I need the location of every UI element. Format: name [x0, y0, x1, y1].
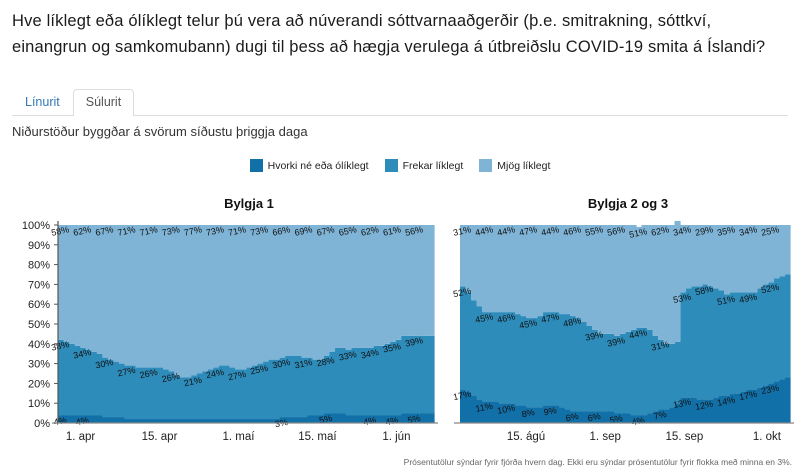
bar-mjog-48: [323, 225, 329, 356]
bar-frekar-32: [636, 328, 642, 415]
bar-mjog-9: [108, 225, 114, 360]
bar-frekar-59: [384, 344, 390, 415]
bar-mjog-24: [592, 225, 598, 330]
bar-mjog-2: [69, 225, 75, 344]
bar-mjog-59: [785, 225, 791, 275]
bar-mjog-31: [631, 225, 637, 330]
bar-mjog-11: [521, 225, 527, 316]
bar-mjog-67: [428, 225, 434, 336]
bar-mjog-39: [675, 221, 681, 342]
bar-frekar-25: [598, 334, 604, 411]
y-tick-label-1: 10%: [28, 398, 50, 410]
bar-frekar-41: [686, 288, 692, 397]
x-tick-label-3: 1. okt: [753, 431, 782, 443]
bar-frekar-30: [625, 332, 631, 413]
chart-panel-bylgja-2-og-3: Bylgja 2 og 3 17%11%10%8%9%6%6%5%4%7%13%…: [444, 196, 796, 451]
bar-mjog-20: [169, 225, 175, 372]
chart-svg-bylgja-2-og-3: 17%11%10%8%9%6%6%5%4%7%13%12%14%17%23%52…: [444, 221, 796, 451]
bar-frekar-5: [488, 312, 494, 401]
bar-mjog-40: [279, 225, 285, 358]
tab-linurit[interactable]: Línurit: [12, 89, 73, 116]
bar-mjog-29: [218, 225, 224, 366]
bar-frekar-67: [428, 336, 434, 413]
bar-frekar-15: [543, 312, 549, 405]
chart-title-bylgja-2-og-3: Bylgja 2 og 3: [444, 196, 796, 211]
bar-mjog-12: [526, 225, 532, 318]
x-tick-label-2: 15. sep: [666, 431, 704, 443]
bar-frekar-56: [768, 282, 774, 383]
bar-mjog-50: [334, 225, 340, 348]
bar-frekar-43: [697, 286, 703, 399]
legend-label-frekar: Frekar líklegt: [403, 160, 464, 172]
bar-mjog-46: [312, 225, 318, 360]
bar-mjog-38: [268, 225, 274, 360]
bar-mjog-17: [152, 225, 158, 368]
bar-mjog-31: [229, 225, 235, 368]
bar-hvorki-10: [113, 417, 119, 423]
bar-mjog-34: [647, 225, 653, 330]
bar-mjog-28: [614, 225, 620, 336]
bar-mjog-29: [620, 225, 626, 334]
bar-mjog-30: [625, 225, 631, 332]
bar-mjog-8: [102, 225, 108, 358]
bar-frekar-58: [379, 346, 385, 415]
bar-mjog-12: [124, 225, 130, 366]
bar-hvorki-11: [119, 417, 125, 423]
bar-mjog-14: [537, 225, 543, 316]
y-tick-label-4: 40%: [28, 339, 50, 351]
y-tick-label-6: 60%: [28, 299, 50, 311]
bar-mjog-24: [191, 225, 197, 375]
bar-mjog-38: [669, 225, 675, 344]
bar-mjog-58: [379, 225, 385, 346]
y-tick-label-5: 50%: [28, 319, 50, 331]
bar-frekar-38: [669, 344, 675, 407]
bar-frekar-12: [526, 318, 532, 407]
bar-frekar-55: [763, 284, 769, 385]
legend-item-frekar[interactable]: Frekar líklegt: [385, 159, 464, 172]
bar-hvorki-8: [102, 417, 108, 423]
x-tick-label-2: 1. maí: [222, 431, 255, 443]
bar-mjog-19: [565, 225, 571, 314]
legend-item-mjog[interactable]: Mjög líklegt: [479, 159, 550, 172]
bar-mjog-59: [384, 225, 390, 344]
data-label-hvorki-4: 4%: [75, 415, 90, 427]
bar-frekar-5: [86, 350, 92, 415]
bar-mjog-23: [587, 225, 593, 326]
bar-mjog-20: [570, 225, 576, 316]
bar-mjog-35: [653, 225, 659, 336]
bar-frekar-7: [499, 312, 505, 403]
bar-mjog-45: [307, 225, 313, 358]
bar-mjog-16: [548, 225, 554, 312]
bar-mjog-14: [135, 225, 141, 368]
bar-frekar-6: [493, 312, 499, 401]
bar-mjog-9: [510, 225, 516, 312]
charts-container: Bylgja 1 4%4%3%5%4%4%5%38%34%30%27%26%26…: [0, 196, 800, 451]
bar-frekar-51: [741, 292, 747, 391]
bar-frekar-49: [730, 292, 736, 393]
bar-frekar-44: [702, 284, 708, 399]
bar-mjog-42: [290, 225, 296, 356]
bar-frekar-53: [752, 292, 758, 389]
bar-mjog-43: [296, 225, 302, 356]
bar-mjog-11: [119, 225, 125, 364]
bar-mjog-53: [351, 225, 357, 348]
bar-hvorki-67: [428, 413, 434, 423]
bar-frekar-28: [614, 336, 620, 413]
bar-hvorki-6: [91, 415, 97, 423]
bar-mjog-63: [406, 225, 412, 336]
bar-mjog-28: [213, 225, 219, 368]
bar-frekar-24: [592, 330, 598, 411]
legend-swatch-mjog: [479, 159, 492, 172]
page-title: Hve líklegt eða ólíklegt telur þú vera a…: [12, 8, 782, 60]
legend-label-hvorki: Hvorki né eða ólíklegt: [268, 160, 369, 172]
bar-mjog-5: [86, 225, 92, 350]
bar-mjog-60: [390, 225, 396, 342]
bar-mjog-51: [340, 225, 346, 348]
bar-mjog-36: [658, 225, 664, 340]
bar-mjog-18: [158, 225, 164, 368]
bar-mjog-18: [559, 225, 565, 314]
bar-frekar-54: [757, 288, 763, 387]
bar-frekar-20: [570, 316, 576, 411]
bar-hvorki-44: [301, 417, 307, 423]
bar-mjog-15: [141, 225, 147, 368]
bar-hvorki-7: [97, 415, 103, 423]
bar-frekar-40: [680, 292, 686, 397]
chart-legend: Hvorki né eða ólíklegtFrekar líklegtMjög…: [0, 159, 800, 172]
bar-mjog-0: [58, 225, 64, 340]
bar-mjog-39: [274, 225, 280, 360]
bar-frekar-59: [785, 275, 791, 378]
bar-frekar-48: [724, 294, 730, 395]
bar-mjog-3: [75, 225, 81, 346]
bar-mjog-65: [417, 225, 423, 336]
bar-mjog-4: [482, 225, 488, 312]
legend-swatch-hvorki: [250, 159, 263, 172]
y-tick-label-10: 100%: [22, 221, 50, 232]
x-tick-label-4: 1. jún: [382, 431, 410, 443]
chart-svg-bylgja-1: 4%4%3%5%4%4%5%38%34%30%27%26%26%21%24%27…: [4, 221, 440, 451]
bar-mjog-13: [130, 225, 136, 366]
bar-mjog-52: [346, 225, 352, 350]
bar-mjog-26: [202, 225, 208, 372]
data-label-hvorki-60: 4%: [385, 415, 400, 427]
bar-frekar-8: [504, 312, 510, 403]
bar-mjog-64: [412, 225, 418, 336]
legend-item-hvorki[interactable]: Hvorki né eða ólíklegt: [250, 159, 369, 172]
data-label-hvorki-0: 4%: [53, 415, 68, 427]
chart-subtitle: Niðurstöður byggðar á svörum síðustu þri…: [12, 124, 308, 139]
bar-mjog-6: [493, 225, 499, 312]
bar-hvorki-9: [108, 417, 114, 423]
bar-hvorki-52: [346, 415, 352, 423]
bar-mjog-4: [80, 225, 86, 348]
bar-mjog-61: [395, 225, 401, 340]
bar-hvorki-66: [423, 413, 429, 423]
bar-mjog-41: [285, 225, 291, 356]
bar-mjog-34: [246, 225, 252, 368]
bar-mjog-26: [603, 225, 609, 334]
bar-mjog-66: [423, 225, 429, 336]
bar-mjog-15: [543, 225, 549, 312]
bar-frekar-9: [108, 360, 114, 417]
tab-sulurit[interactable]: Súlurit: [73, 89, 134, 116]
x-tick-label-1: 1. sep: [590, 431, 621, 443]
bar-mjog-27: [207, 225, 213, 370]
bar-mjog-58: [779, 225, 785, 276]
bar-frekar-31: [631, 330, 637, 415]
plot-area-bylgja-1[interactable]: 4%4%3%5%4%4%5%38%34%30%27%26%26%21%24%27…: [4, 221, 440, 451]
plot-area-bylgja-2-og-3[interactable]: 17%11%10%8%9%6%6%5%4%7%13%12%14%17%23%52…: [444, 221, 796, 451]
bar-frekar-65: [417, 336, 423, 413]
bar-mjog-44: [301, 225, 307, 358]
bar-frekar-1: [64, 342, 70, 415]
bar-hvorki-51: [340, 413, 346, 423]
bar-mjog-35: [252, 225, 258, 366]
survey-chart-page: Hve líklegt eða ólíklegt telur þú vera a…: [0, 0, 800, 471]
y-tick-label-8: 80%: [28, 260, 50, 272]
bar-hvorki-43: [296, 417, 302, 423]
bar-frekar-0: [460, 286, 466, 389]
bar-hvorki-45: [307, 415, 313, 423]
bar-frekar-33: [642, 328, 648, 415]
bar-hvorki-34: [647, 413, 653, 423]
chart-panel-bylgja-1: Bylgja 1 4%4%3%5%4%4%5%38%34%30%27%26%26…: [4, 196, 440, 451]
bar-mjog-6: [91, 225, 97, 352]
bar-mjog-22: [581, 225, 587, 322]
chart-footnote: Prósentutölur sýndar fyrir fjórða hvern …: [404, 457, 792, 467]
bar-mjog-13: [532, 225, 538, 318]
bar-frekar-37: [664, 344, 670, 409]
bar-hvorki-58: [779, 379, 785, 423]
bar-mjog-33: [240, 225, 246, 370]
bar-mjog-56: [368, 225, 374, 348]
bar-mjog-10: [515, 225, 521, 314]
bar-mjog-5: [488, 225, 494, 312]
y-tick-label-0: 0%: [34, 418, 50, 430]
bar-frekar-14: [537, 316, 543, 407]
x-tick-label-3: 15. maí: [298, 431, 337, 443]
bar-mjog-8: [504, 225, 510, 312]
x-tick-label-0: 15. ágú: [507, 431, 545, 443]
bar-mjog-27: [609, 225, 615, 334]
bar-mjog-62: [401, 225, 407, 336]
bar-frekar-42: [691, 286, 697, 397]
bar-mjog-32: [235, 225, 241, 370]
bar-mjog-37: [664, 225, 670, 344]
bar-frekar-4: [482, 312, 488, 401]
bar-mjog-57: [373, 225, 379, 346]
data-label-hvorki-32: 4%: [631, 415, 646, 427]
bar-frekar-13: [532, 318, 538, 407]
bar-frekar-1: [466, 292, 472, 391]
y-tick-label-7: 70%: [28, 279, 50, 291]
bar-mjog-22: [180, 225, 186, 377]
bar-hvorki-59: [785, 377, 791, 423]
bar-frekar-16: [548, 312, 554, 405]
bar-hvorki-10: [515, 405, 521, 423]
bar-mjog-1: [64, 225, 70, 342]
bar-frekar-9: [510, 312, 516, 403]
bar-frekar-21: [174, 375, 180, 419]
bar-mjog-37: [263, 225, 269, 362]
y-tick-label-9: 90%: [28, 240, 50, 252]
legend-label-mjog: Mjög líklegt: [497, 160, 550, 172]
bar-mjog-25: [598, 225, 604, 334]
bar-frekar-66: [423, 336, 429, 413]
bar-mjog-49: [329, 225, 335, 352]
x-tick-label-1: 15. apr: [142, 431, 178, 443]
x-tick-label-0: 1. apr: [66, 431, 96, 443]
bar-mjog-36: [257, 225, 263, 364]
bar-mjog-25: [196, 225, 202, 374]
chart-title-bylgja-1: Bylgja 1: [4, 196, 440, 211]
legend-swatch-frekar: [385, 159, 398, 172]
bar-frekar-39: [675, 342, 681, 403]
bar-mjog-33: [642, 225, 648, 328]
bar-hvorki-42: [290, 417, 296, 423]
bar-mjog-21: [174, 225, 180, 375]
bar-mjog-47: [318, 225, 324, 360]
bar-mjog-55: [362, 225, 368, 348]
bar-hvorki-62: [401, 413, 407, 423]
bar-frekar-57: [774, 278, 780, 381]
data-label-hvorki-56: 4%: [362, 415, 377, 427]
bar-mjog-19: [163, 225, 169, 370]
bar-mjog-16: [146, 225, 152, 368]
bar-mjog-17: [554, 225, 560, 312]
bar-mjog-23: [185, 225, 191, 377]
bar-frekar-64: [412, 336, 418, 413]
bar-mjog-30: [224, 225, 230, 366]
bar-mjog-7: [499, 225, 505, 312]
bar-mjog-54: [357, 225, 363, 348]
chart-type-tabs: Línurit Súlurit: [12, 88, 788, 116]
bar-frekar-52: [746, 292, 752, 389]
bar-hvorki-50: [334, 413, 340, 423]
bar-frekar-17: [554, 312, 560, 405]
y-tick-label-2: 20%: [28, 378, 50, 390]
bar-hvorki-53: [351, 415, 357, 423]
bar-frekar-45: [708, 286, 714, 399]
y-tick-label-3: 30%: [28, 359, 50, 371]
bar-mjog-10: [113, 225, 119, 362]
bar-mjog-32: [636, 227, 642, 328]
bar-frekar-21: [576, 318, 582, 411]
bar-mjog-21: [576, 225, 582, 318]
bar-mjog-7: [97, 225, 103, 354]
bar-frekar-58: [779, 276, 785, 379]
bar-frekar-50: [735, 292, 741, 393]
